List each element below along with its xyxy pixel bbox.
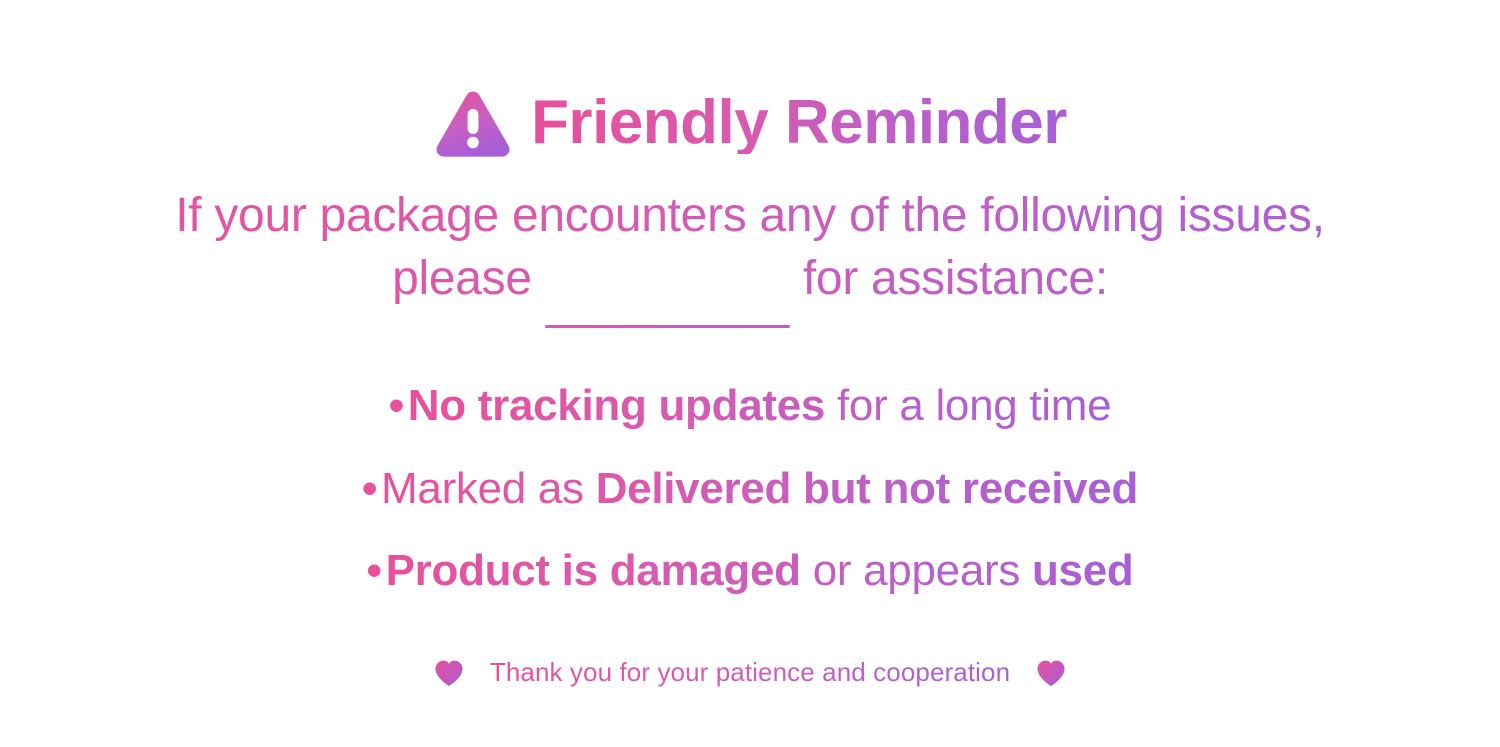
title-row: Friendly Reminder	[433, 84, 1067, 162]
list-item-part: for a long time	[825, 381, 1111, 430]
bullet-marker: •	[362, 464, 381, 513]
footer-text: Thank you for your patience and cooperat…	[490, 657, 1010, 688]
bullet-marker: •	[389, 381, 408, 430]
heart-icon	[1036, 659, 1066, 687]
list-item-part: Product is damaged	[386, 546, 801, 595]
page-title: Friendly Reminder	[531, 92, 1067, 154]
list-item-part: Marked as	[381, 464, 596, 513]
intro-paragraph: If your package encounters any of the fo…	[40, 184, 1460, 311]
intro-line-2: please contact us for assistance:	[40, 247, 1460, 310]
list-item: •Product is damaged or appears used	[367, 534, 1134, 609]
footer-row: Thank you for your patience and cooperat…	[434, 657, 1066, 688]
contact-us-link[interactable]: contact us	[545, 247, 790, 310]
heart-icon	[434, 659, 464, 687]
intro-line-1: If your package encounters any of the fo…	[40, 184, 1460, 247]
warning-triangle-icon	[433, 87, 513, 159]
list-item-part: or appears	[801, 546, 1032, 595]
list-item: •No tracking updates for a long time	[389, 369, 1112, 444]
list-item-part: No tracking updates	[408, 381, 825, 430]
intro-line-2-prefix: please	[392, 252, 545, 305]
friendly-reminder-card: Friendly Reminder If your package encoun…	[0, 0, 1500, 747]
bullet-marker: •	[367, 546, 386, 595]
list-item-part: used	[1032, 546, 1134, 595]
issue-list: •No tracking updates for a long time •Ma…	[0, 369, 1500, 609]
intro-line-2-suffix: for assistance:	[790, 252, 1108, 305]
list-item-part: Delivered but not received	[596, 464, 1138, 513]
list-item: •Marked as Delivered but not received	[362, 452, 1138, 527]
